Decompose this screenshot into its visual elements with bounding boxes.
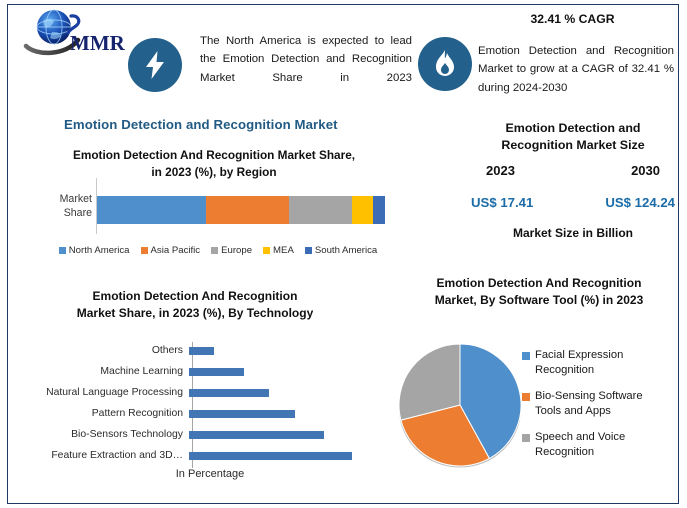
technology-bar-label: Others bbox=[20, 345, 188, 356]
legend-swatch bbox=[211, 247, 218, 254]
technology-bar-fill[interactable] bbox=[189, 368, 244, 376]
technology-bar-track bbox=[188, 445, 370, 466]
legend-swatch bbox=[263, 247, 270, 254]
legend-label: Asia Pacific bbox=[151, 245, 201, 256]
software-tool-title-line1: Emotion Detection And Recognition bbox=[400, 275, 678, 292]
legend-swatch bbox=[59, 247, 66, 254]
mmr-logo: MMR bbox=[22, 6, 140, 62]
technology-bar-label: Feature Extraction and 3D… bbox=[20, 450, 188, 461]
stacked-bar-category-label: Market Share bbox=[32, 193, 92, 220]
technology-bar-row[interactable]: Feature Extraction and 3D… bbox=[20, 445, 370, 466]
pie-legend-swatch bbox=[522, 352, 530, 360]
technology-bar-fill[interactable] bbox=[189, 452, 352, 460]
technology-bar-label: Natural Language Processing bbox=[20, 387, 188, 398]
software-tool-title-line2: Market, By Software Tool (%) in 2023 bbox=[400, 292, 678, 309]
pie-legend-item-bio-sensing-software-tools-and-apps[interactable]: Bio-Sensing SoftwareTools and Apps bbox=[522, 389, 674, 420]
technology-bar-label: Bio-Sensors Technology bbox=[20, 429, 188, 440]
year-end-label: 2030 bbox=[631, 163, 660, 178]
technology-bar-track bbox=[188, 361, 370, 382]
software-tool-pie-chart[interactable] bbox=[396, 343, 524, 471]
legend-item-north-america[interactable]: North America bbox=[59, 245, 130, 256]
technology-bar-row[interactable]: Machine Learning bbox=[20, 361, 370, 382]
legend-swatch bbox=[141, 247, 148, 254]
technology-bar-plot: OthersMachine LearningNatural Language P… bbox=[20, 340, 370, 470]
technology-bar-row[interactable]: Bio-Sensors Technology bbox=[20, 424, 370, 445]
legend-swatch bbox=[305, 247, 312, 254]
flame-badge bbox=[418, 37, 472, 91]
technology-chart-title: Emotion Detection And Recognition Market… bbox=[20, 288, 370, 322]
technology-bar-fill[interactable] bbox=[189, 347, 214, 355]
legend-item-mea[interactable]: MEA bbox=[263, 245, 294, 256]
stacked-segment-europe[interactable] bbox=[289, 196, 352, 224]
pie-legend-label: Facial ExpressionRecognition bbox=[535, 348, 623, 379]
legend-label: South America bbox=[315, 245, 377, 256]
lightning-bolt-icon bbox=[128, 38, 182, 92]
cat-label-line1: Market bbox=[32, 193, 92, 207]
pie-legend-item-speech-and-voice-recognition[interactable]: Speech and VoiceRecognition bbox=[522, 430, 674, 461]
technology-bar-fill[interactable] bbox=[189, 389, 269, 397]
technology-chart-xlabel: In Percentage bbox=[120, 468, 300, 480]
flame-icon bbox=[418, 37, 472, 91]
year-start-label: 2023 bbox=[486, 163, 515, 178]
market-size-heading: Emotion Detection and Recognition Market… bbox=[470, 120, 676, 154]
technology-bar-row[interactable]: Others bbox=[20, 340, 370, 361]
pie-legend-swatch bbox=[522, 434, 530, 442]
banner-headline: The North America is expected to lead th… bbox=[200, 32, 412, 87]
pie-legend-label: Speech and VoiceRecognition bbox=[535, 430, 625, 461]
technology-chart-title-line2: Market Share, in 2023 (%), By Technology bbox=[20, 305, 370, 322]
legend-item-south-america[interactable]: South America bbox=[305, 245, 377, 256]
technology-bar-row[interactable]: Natural Language Processing bbox=[20, 382, 370, 403]
infographic-page: MMR The North America is expected to lea… bbox=[0, 0, 687, 508]
stacked-segment-asia-pacific[interactable] bbox=[206, 196, 288, 224]
market-value-2023: US$ 17.41 bbox=[471, 195, 533, 210]
pie-legend-item-facial-expression-recognition[interactable]: Facial ExpressionRecognition bbox=[522, 348, 674, 379]
svg-text:MMR: MMR bbox=[70, 31, 126, 55]
stacked-segment-south-america[interactable] bbox=[373, 196, 385, 224]
software-tool-legend: Facial ExpressionRecognitionBio-Sensing … bbox=[522, 348, 674, 471]
pie-legend-label: Bio-Sensing SoftwareTools and Apps bbox=[535, 389, 643, 420]
technology-bar-fill[interactable] bbox=[189, 410, 295, 418]
market-size-heading-line2: Recognition Market Size bbox=[470, 137, 676, 154]
stacked-bar-title-line1: Emotion Detection And Recognition Market… bbox=[28, 147, 400, 164]
legend-label: Europe bbox=[221, 245, 252, 256]
stacked-segment-mea[interactable] bbox=[352, 196, 374, 224]
software-tool-chart-title: Emotion Detection And Recognition Market… bbox=[400, 275, 678, 309]
stacked-bar-title: Emotion Detection And Recognition Market… bbox=[28, 147, 400, 181]
technology-bar-label: Pattern Recognition bbox=[20, 408, 188, 419]
cagr-heading: 32.41 % CAGR bbox=[470, 12, 675, 26]
technology-bar-label: Machine Learning bbox=[20, 366, 188, 377]
technology-bar-row[interactable]: Pattern Recognition bbox=[20, 403, 370, 424]
legend-label: MEA bbox=[273, 245, 294, 256]
stacked-bar-plot bbox=[96, 178, 386, 234]
legend-item-asia-pacific[interactable]: Asia Pacific bbox=[141, 245, 201, 256]
pie-legend-swatch bbox=[522, 393, 530, 401]
stacked-segment-north-america[interactable] bbox=[97, 196, 206, 224]
technology-bar-track bbox=[188, 340, 370, 361]
technology-bar-track bbox=[188, 382, 370, 403]
market-size-values: US$ 17.41 US$ 124.24 bbox=[465, 195, 681, 210]
market-size-heading-line1: Emotion Detection and bbox=[470, 120, 676, 137]
lightning-bolt-badge bbox=[128, 38, 182, 92]
technology-bar-track bbox=[188, 424, 370, 445]
legend-item-europe[interactable]: Europe bbox=[211, 245, 252, 256]
market-value-2030: US$ 124.24 bbox=[605, 195, 675, 210]
market-size-footer: Market Size in Billion bbox=[470, 226, 676, 240]
technology-chart-title-line1: Emotion Detection And Recognition bbox=[20, 288, 370, 305]
cat-label-line2: Share bbox=[32, 207, 92, 221]
legend-label: North America bbox=[69, 245, 130, 256]
page-title: Emotion Detection and Recognition Market bbox=[64, 117, 338, 132]
cagr-description: Emotion Detection and Recognition Market… bbox=[478, 42, 674, 97]
stacked-bar-legend: North AmericaAsia PacificEuropeMEASouth … bbox=[40, 245, 396, 256]
stacked-bar[interactable] bbox=[97, 196, 385, 224]
technology-bar-fill[interactable] bbox=[189, 431, 324, 439]
market-size-years: 2023 2030 bbox=[470, 163, 676, 178]
technology-bar-track bbox=[188, 403, 370, 424]
